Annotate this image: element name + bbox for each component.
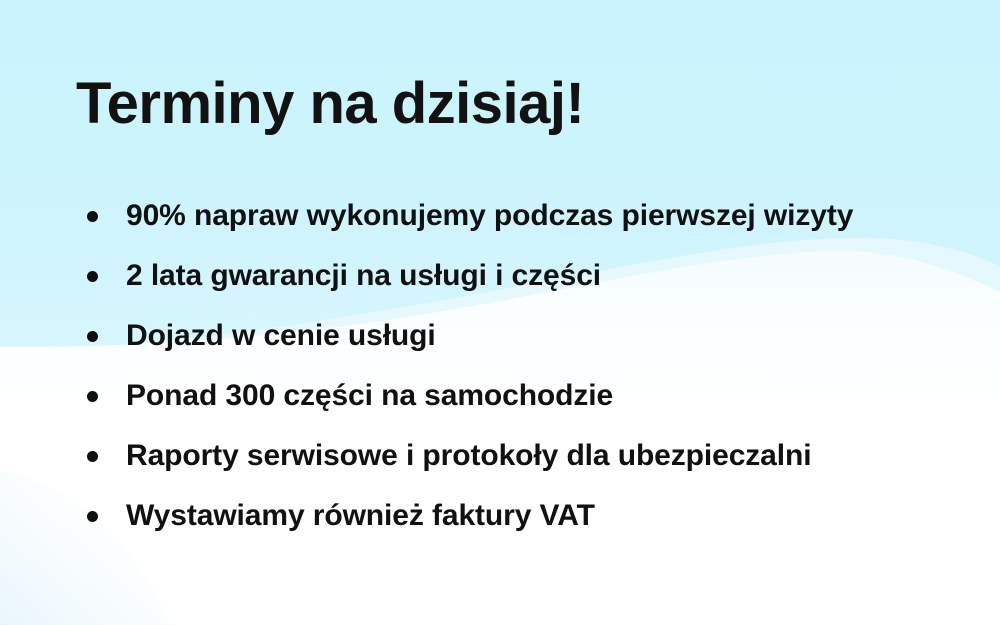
list-item-label: Ponad 300 części na samochodzie	[126, 379, 613, 413]
filled-circle-bullet-icon	[87, 331, 98, 342]
list-item-label: 90% napraw wykonujemy podczas pierwszej …	[126, 199, 853, 233]
list-item: Ponad 300 części na samochodzie	[0, 366, 1000, 426]
filled-circle-bullet-icon	[87, 451, 98, 462]
list-item: Raporty serwisowe i protokoły dla ubezpi…	[0, 426, 1000, 486]
filled-circle-bullet-icon	[87, 391, 98, 402]
filled-circle-bullet-icon	[87, 211, 98, 222]
bullet-list: 90% napraw wykonujemy podczas pierwszej …	[0, 186, 1000, 546]
list-item-label: 2 lata gwarancji na usługi i części	[126, 259, 601, 293]
filled-circle-bullet-icon	[87, 511, 98, 522]
list-item: Dojazd w cenie usługi	[0, 306, 1000, 366]
slide-content: Terminy na dzisiaj! 90% napraw wykonujem…	[0, 0, 1000, 625]
list-item: 2 lata gwarancji na usługi i części	[0, 246, 1000, 306]
list-item: Wystawiamy również faktury VAT	[0, 486, 1000, 546]
list-item-label: Dojazd w cenie usługi	[126, 319, 436, 353]
list-item-label: Wystawiamy również faktury VAT	[126, 499, 595, 533]
list-item: 90% napraw wykonujemy podczas pierwszej …	[0, 186, 1000, 246]
slide-canvas: Terminy na dzisiaj! 90% napraw wykonujem…	[0, 0, 1000, 625]
page-title: Terminy na dzisiaj!	[76, 73, 584, 135]
filled-circle-bullet-icon	[87, 271, 98, 282]
list-item-label: Raporty serwisowe i protokoły dla ubezpi…	[126, 439, 811, 473]
